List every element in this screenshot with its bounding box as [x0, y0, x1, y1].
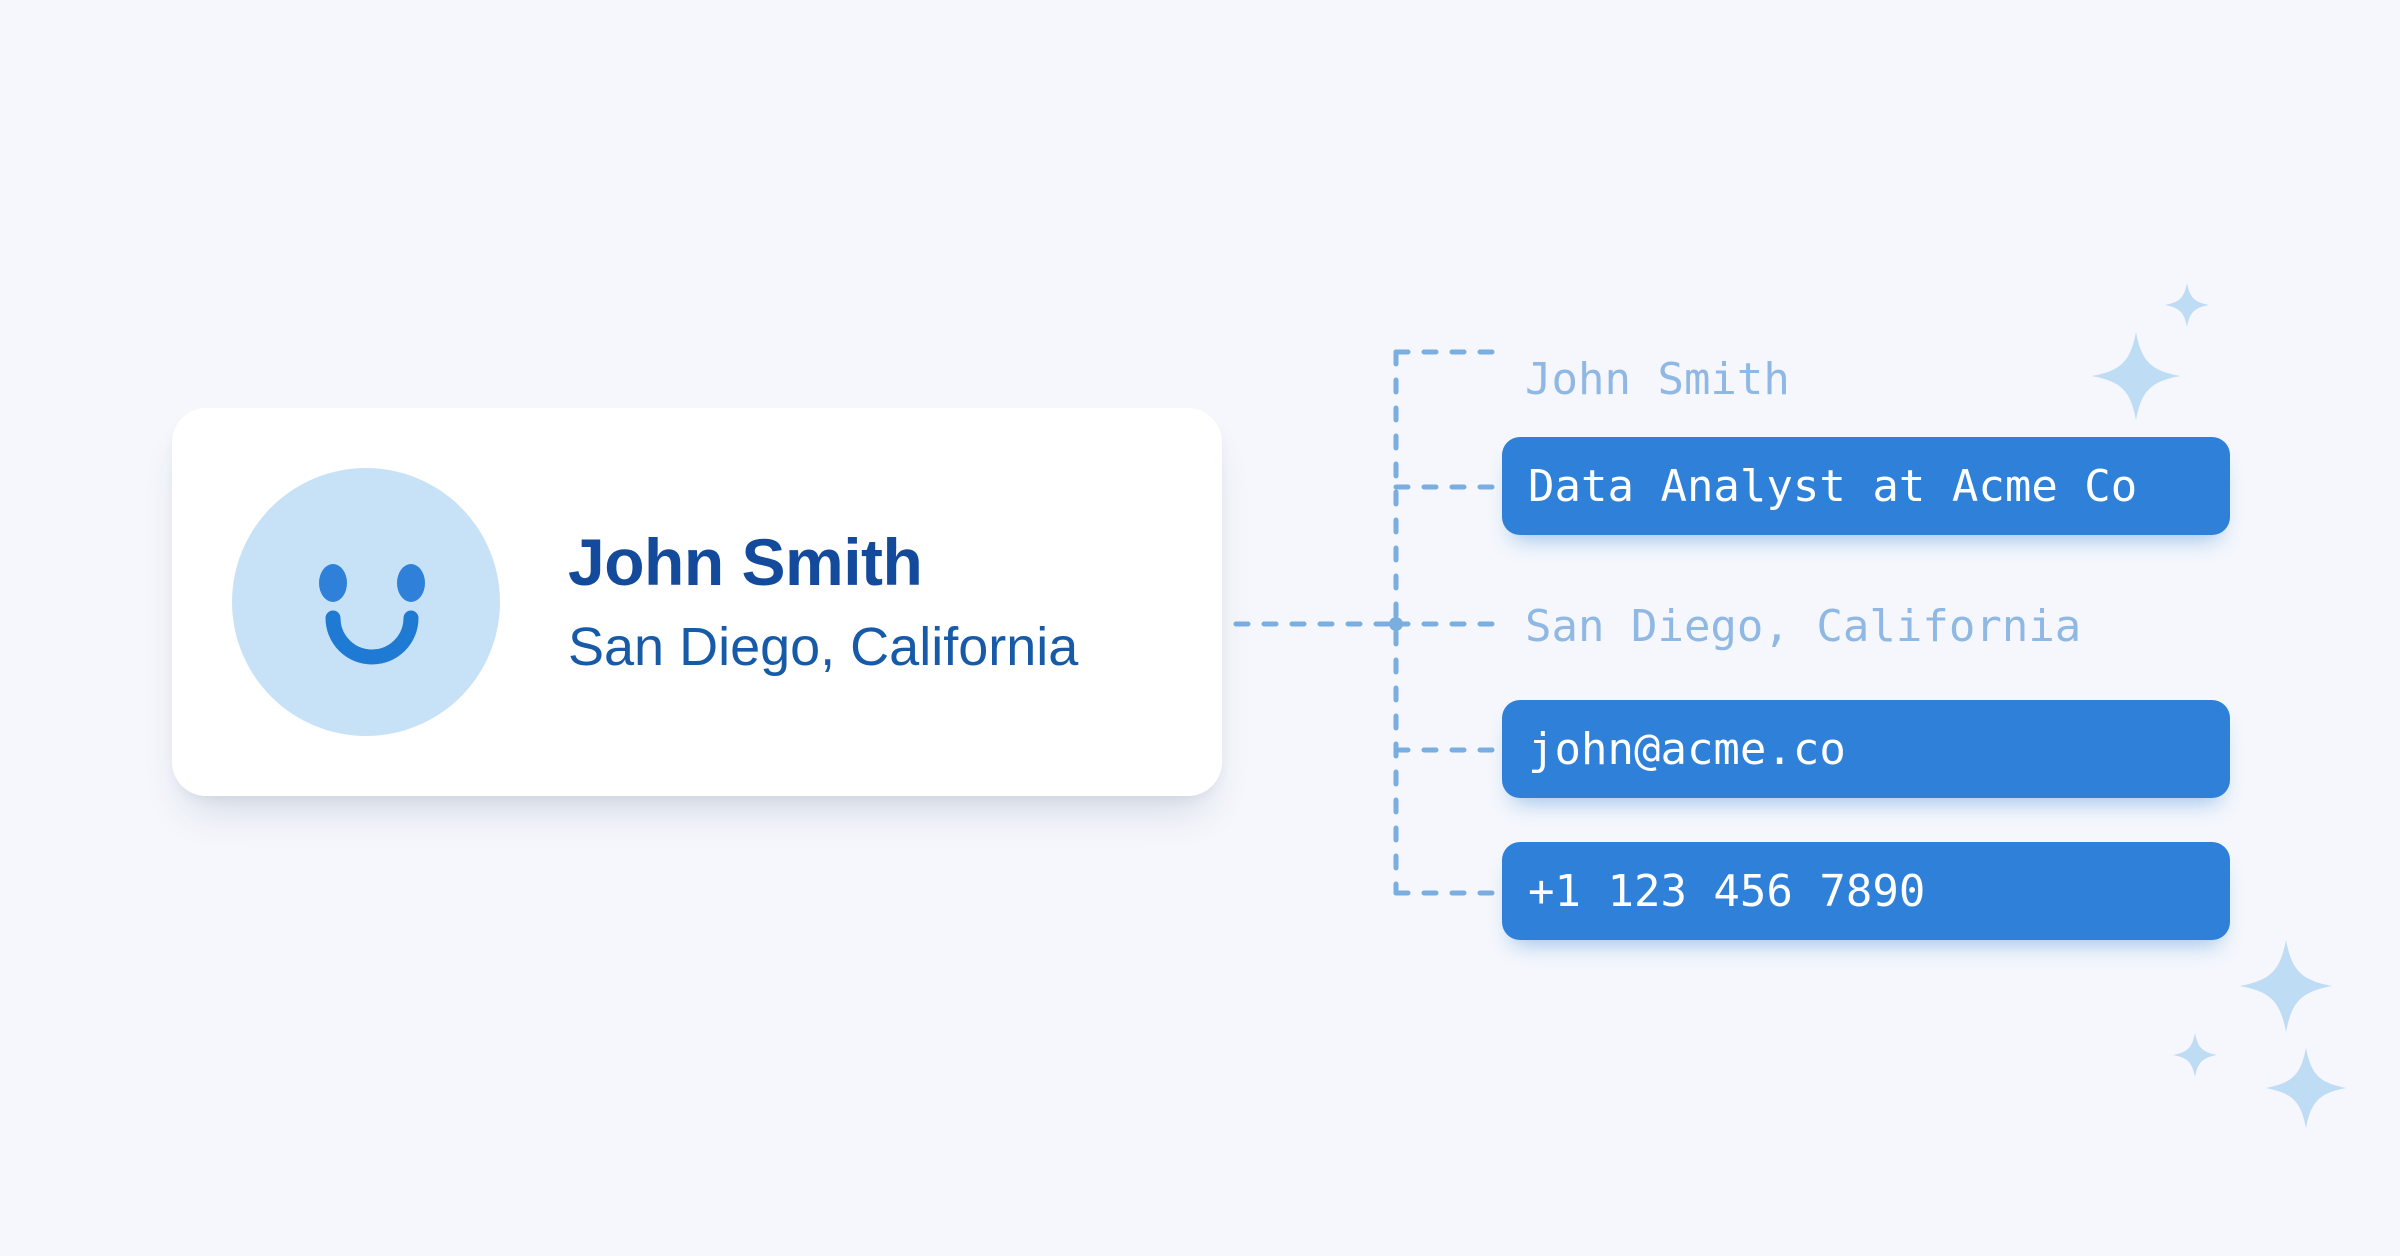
avatar	[232, 468, 500, 736]
profile-card: John Smith San Diego, California	[172, 408, 1222, 796]
field-value-email: john@acme.co	[1528, 724, 1846, 775]
field-value-location: San Diego, California	[1525, 601, 2081, 652]
card-location: San Diego, California	[568, 615, 1078, 680]
sparkle-large-bottom-icon	[2238, 938, 2334, 1034]
field-pill-phone[interactable]: +1 123 456 7890	[1502, 842, 2230, 940]
sparkle-small-top-right-icon	[2164, 282, 2210, 328]
connector-junction-dot	[1389, 617, 1403, 631]
field-row-location: San Diego, California	[1525, 577, 2081, 675]
sparkle-medium-bottom-icon	[2264, 1046, 2348, 1130]
field-row-name: John Smith	[1525, 330, 1790, 428]
sparkle-small-bottom-left-icon	[2172, 1032, 2218, 1078]
field-value-name: John Smith	[1525, 354, 1790, 405]
card-name: John Smith	[568, 524, 1078, 601]
card-text-block: John Smith San Diego, California	[568, 524, 1078, 679]
field-value-phone: +1 123 456 7890	[1528, 866, 1925, 917]
field-value-title: Data Analyst at Acme Co	[1528, 461, 2137, 512]
field-row-title: Data Analyst at Acme Co	[1502, 437, 2230, 535]
smiley-face-avatar-icon	[232, 468, 500, 736]
sparkle-large-top-right-icon	[2090, 330, 2182, 422]
field-row-phone: +1 123 456 7890	[1502, 842, 2230, 940]
contact-extraction-illustration: John Smith San Diego, California John Sm…	[0, 0, 2400, 1256]
field-row-email: john@acme.co	[1502, 700, 2230, 798]
field-pill-email[interactable]: john@acme.co	[1502, 700, 2230, 798]
field-pill-title[interactable]: Data Analyst at Acme Co	[1502, 437, 2230, 535]
